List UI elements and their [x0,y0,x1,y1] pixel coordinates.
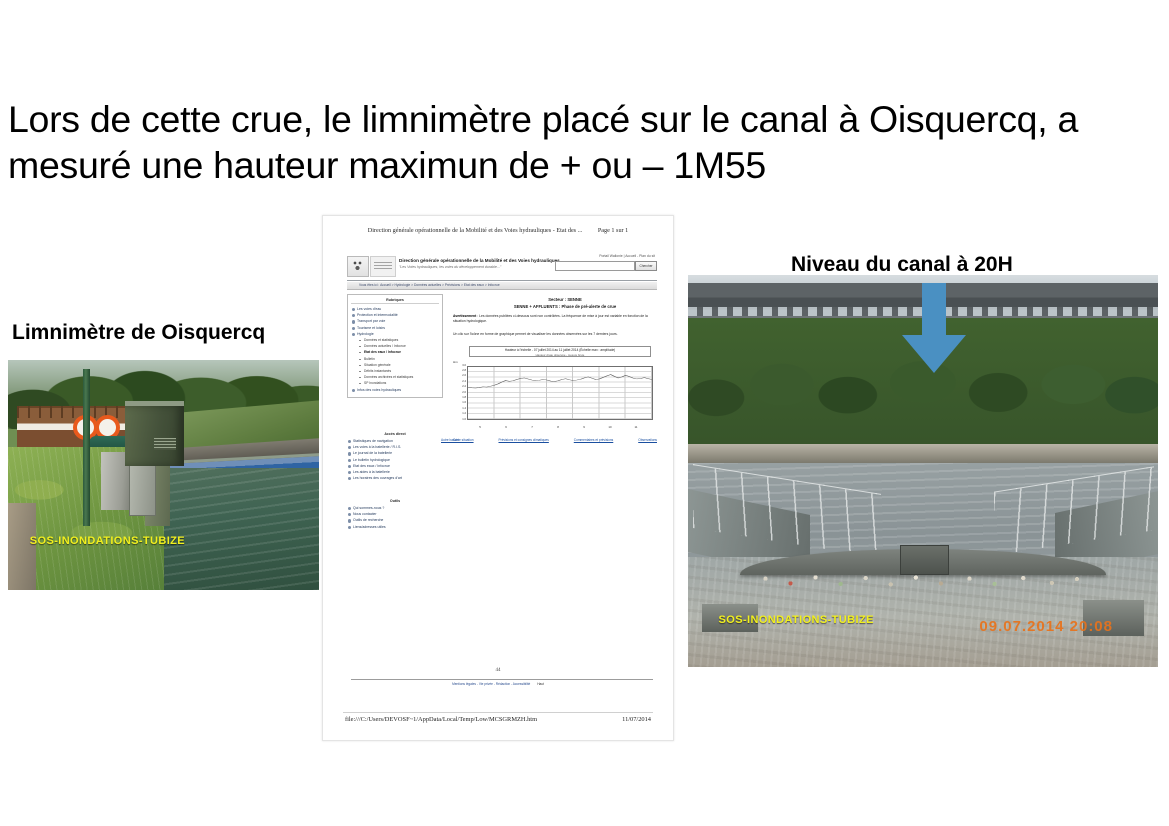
doc-link-previsions[interactable]: Prévisions et consignes climatiques [499,438,549,442]
doc-footer-links: Mentions légales - Vie privée - Rédactio… [323,682,673,686]
print-header-title: Direction générale opérationnelle de la … [368,227,583,234]
doc-sector-heading: Secteur : SENNE SENNE + AFFLUENTS : Phas… [473,296,657,310]
chart-y-tick: 1.2 [453,413,466,416]
doc-file-path: file:///C:/Users/DEVOSF~1/AppData/Local/… [345,716,537,723]
doc-nav-title: Rubriques [351,298,439,304]
chart-y-tick: 2.8 [453,370,466,373]
chart-line-series [468,367,652,419]
watermark-sos-inondations: SOS-INONDATIONS-TUBIZE [30,535,185,547]
chart-y-tick: 3.0 [453,365,466,368]
doc-direct-access-block: Accès direct Statistiques de navigation … [347,432,443,481]
doc-tools-item-liens[interactable]: Liens/adresses utiles [347,524,443,530]
doc-tools-block: Outils Qui sommes-nous ? Nous contacter … [347,499,443,530]
doc-file-date: 11/07/2014 [622,716,651,723]
doc-bottom-divider [343,712,653,713]
doc-footer-top-link[interactable]: Haut [537,682,544,686]
doc-warning-label: Avertissement [453,314,476,318]
print-header: Direction générale opérationnelle de la … [323,227,673,234]
chart-x-tick: 6 [499,425,513,429]
floating-debris [744,569,1101,593]
caption-limnimetre: Limnimètre de Oisquercq [12,320,265,346]
wallonie-logo-icon [347,256,369,277]
chart-x-tick: 9 [577,425,591,429]
doc-page-number: 44 [323,668,673,673]
scanned-hydrology-report: Direction générale opérationnelle de la … [322,215,674,741]
service-logo-icon [370,256,396,277]
banner-title: Direction générale opérationnelle de la … [399,258,560,263]
canal-water [145,468,319,590]
green-post [83,369,90,525]
chart-ylabel: Hm [453,360,458,364]
chart-y-tick: 1.8 [453,397,466,400]
watermark-sos-inondations: SOS-INONDATIONS-TUBIZE [719,614,874,626]
chart-y-tick: 2.0 [453,392,466,395]
chart-y-tick: 2.4 [453,381,466,384]
site-banner: Direction générale opérationnelle de la … [347,254,657,281]
doc-link-carte-situation[interactable]: Carte situation [453,438,474,442]
chart-y-tick: 2.6 [453,375,466,378]
doc-sidebar-nav: Rubriques Les voies d'eau Protection et … [347,294,443,398]
chart-legend: Hauteur à l'échelle - 07 juillet 2014 au… [469,346,651,357]
chart-series-label: Hauteur d'eau observée - mesure brute [470,353,650,357]
breadcrumb[interactable]: Vous êtes ici : Accueil > Hydrologie > D… [347,282,657,290]
chart-plot-area [467,366,653,420]
search-input[interactable] [555,261,635,271]
doc-warning-text: Avertissement : Les données publiées ci-… [453,314,657,325]
limnimeter-cabinet [125,401,184,466]
print-page-number: Page 1 sur 1 [598,227,628,234]
down-arrow-icon [898,283,970,375]
chart-y-tick: 1.4 [453,408,466,411]
doc-link-observations[interactable]: Observations [638,438,657,442]
hydrograph-chart: Hm 3.02.82.62.42.22.01.81.61.41.21.0 567… [453,360,657,430]
doc-links-row: Carte situation Prévisions et consignes … [453,438,657,442]
chart-y-tick: 2.2 [453,386,466,389]
doc-link-commentaires[interactable]: Commentaires et prévisions [574,438,614,442]
banner-subtitle: "Les Voies hydrauliques, les voies du dé… [399,265,501,269]
chart-x-tick: 10 [603,425,617,429]
doc-direct-item-horaires[interactable]: Les horaires des ouvrages d'art [347,475,443,481]
portal-links[interactable]: Portail Wallonie | Accueil - Plan du sit [599,254,655,258]
doc-sector-line2: SENNE + AFFLUENTS : Phase de pré-alerte … [473,303,657,310]
chart-x-tick: 8 [551,425,565,429]
chart-x-tick: 5 [473,425,487,429]
limnimeter-station-photo: SOS-INONDATIONS-TUBIZE [8,360,319,590]
doc-nav-item-infos-voies[interactable]: Infos des voies hydrauliques [351,387,439,393]
doc-warning-body: : Les données publiées ci-dessous sont n… [453,314,648,323]
doc-direct-access-title: Accès direct [347,432,443,436]
doc-sector-line1: Secteur : SENNE [473,296,657,303]
doc-footer-divider [351,679,653,680]
camera-timestamp: 09.07.2014 20:08 [979,618,1113,635]
search-button[interactable]: Chercher [635,261,657,271]
chart-x-tick: 7 [525,425,539,429]
chart-x-tick: 11 [629,425,643,429]
chart-y-tick: 1.0 [453,419,466,422]
doc-intro-text: Un clic sur l'icône en forme de graphiqu… [453,332,657,337]
page-title: Lors de cette crue, le limnimètre placé … [8,96,1163,188]
chart-y-tick: 1.6 [453,402,466,405]
doc-tools-title: Outils [347,499,443,503]
cabinet-vent [154,438,176,450]
doc-footer-legal-links[interactable]: Mentions légales - Vie privée - Rédactio… [452,682,530,686]
